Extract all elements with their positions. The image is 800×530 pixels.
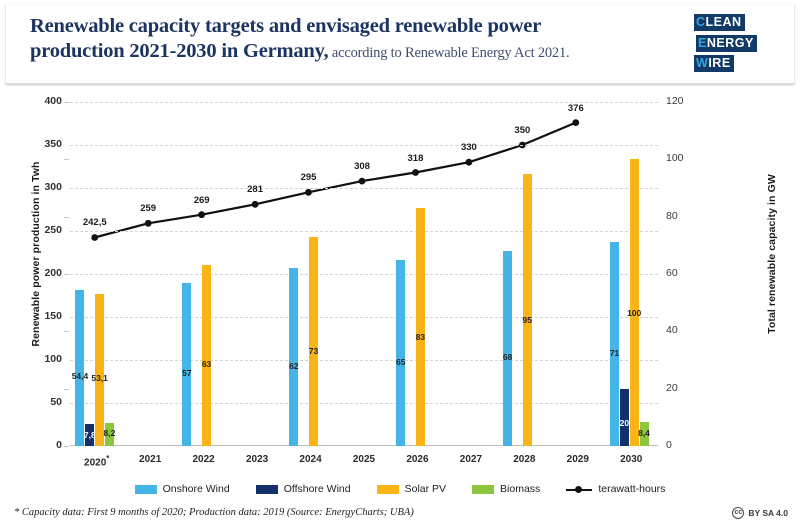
bar-value-label: 83 <box>407 332 434 342</box>
gridline <box>70 231 658 232</box>
y-axis-tick-right: 120 <box>666 95 706 107</box>
x-axis-tick-2027: 2027 <box>444 454 497 465</box>
gridline <box>70 188 658 189</box>
y-axis-tick-left: 100 <box>6 353 62 365</box>
legend-line-marker-icon <box>566 485 592 494</box>
y-axis-tick-right: 20 <box>666 382 706 394</box>
twh-data-point <box>572 119 579 126</box>
gridline <box>70 145 658 146</box>
page-title: Renewable capacity targets and envisaged… <box>30 14 670 66</box>
y-axis-label-right: Total renewable capacity in GW <box>766 134 778 374</box>
logo-clean-rest: LEAN <box>706 15 742 29</box>
title-line-2: production 2021-2030 in Germany, accordi… <box>30 39 670 66</box>
bar-value-label: 62 <box>280 361 307 371</box>
title-line-2-text: production 2021-2030 in Germany, <box>30 40 328 62</box>
twh-data-point <box>198 211 205 218</box>
bar-onshore-wind-2020 <box>75 290 84 446</box>
x-axis-tick-2021: 2021 <box>123 454 176 465</box>
bar-solar-pv-2030 <box>630 159 639 446</box>
logo-clean-initial: C <box>696 15 706 29</box>
y-axis-tick-mark <box>64 331 69 332</box>
legend-label: Solar PV <box>405 483 446 495</box>
y-axis-tick-right: 0 <box>666 439 706 451</box>
bar-offshore-wind-2030 <box>620 389 629 446</box>
y-axis-tick-right: 100 <box>666 152 706 164</box>
footnote-text: * Capacity data: First 9 months of 2020;… <box>14 507 414 518</box>
twh-point-label: 330 <box>443 142 495 153</box>
bar-solar-pv-2024 <box>309 237 318 446</box>
gridline <box>70 403 658 404</box>
twh-point-label: 242,5 <box>69 217 121 228</box>
twh-data-point <box>466 159 473 166</box>
cc-icon: cc <box>732 507 744 519</box>
bar-onshore-wind-2022 <box>182 283 191 446</box>
twh-point-label: 376 <box>550 103 602 114</box>
x-axis-tick-2030: 2030 <box>605 454 658 465</box>
twh-data-point <box>359 178 366 185</box>
gridline <box>70 360 658 361</box>
footer-bar: * Capacity data: First 9 months of 2020;… <box>0 502 800 530</box>
title-subtitle: according to Renewable Energy Act 2021. <box>328 45 569 61</box>
x-axis-tick-2026: 2026 <box>391 454 444 465</box>
twh-data-point <box>91 234 98 241</box>
legend-label: terawatt-hours <box>598 483 665 495</box>
legend-swatch-icon <box>135 485 157 494</box>
logo-energy-initial: E <box>698 36 707 50</box>
y-axis-tick-mark <box>64 274 69 275</box>
legend-swatch-icon <box>472 485 494 494</box>
y-axis-tick-right: 80 <box>666 210 706 222</box>
logo-row-clean: CLEAN <box>694 14 745 31</box>
gridline <box>70 317 658 318</box>
bar-value-label: 8,2 <box>96 428 123 438</box>
y-axis-tick-left: 300 <box>6 181 62 193</box>
bar-value-label: 65 <box>387 357 414 367</box>
bar-onshore-wind-2030 <box>610 242 619 446</box>
y-axis-tick-right: 40 <box>666 324 706 336</box>
y-axis-tick-left: 350 <box>6 138 62 150</box>
logo-wire-rest: IRE <box>708 56 730 70</box>
y-axis-tick-left: 400 <box>6 95 62 107</box>
bar-solar-pv-2020 <box>95 294 104 446</box>
legend-label: Offshore Wind <box>284 483 351 495</box>
y-axis-tick-left: 250 <box>6 224 62 236</box>
bar-onshore-wind-2024 <box>289 268 298 446</box>
bar-onshore-wind-2028 <box>503 251 512 446</box>
y-axis-tick-mark <box>64 446 69 447</box>
bar-value-label: 100 <box>621 308 648 318</box>
twh-point-label: 318 <box>389 153 441 164</box>
bar-solar-pv-2026 <box>416 208 425 446</box>
twh-data-point <box>412 169 419 176</box>
twh-point-label: 295 <box>283 172 335 183</box>
legend-swatch-icon <box>377 485 399 494</box>
bar-solar-pv-2028 <box>523 174 532 446</box>
x-axis-tick-2020: 2020* <box>70 454 123 468</box>
legend-item-terawatt-hours[interactable]: terawatt-hours <box>566 483 665 495</box>
chart-grid: 0501001502002503003504000204060801001202… <box>70 102 658 446</box>
x-axis-tick-2028: 2028 <box>498 454 551 465</box>
x-axis-tick-2022: 2022 <box>177 454 230 465</box>
bar-solar-pv-2022 <box>202 265 211 446</box>
legend-label: Biomass <box>500 483 540 495</box>
legend-item-offshore-wind[interactable]: Offshore Wind <box>256 483 351 495</box>
twh-data-point <box>252 201 259 208</box>
legend-item-biomass[interactable]: Biomass <box>472 483 540 495</box>
creative-commons-badge: cc BY SA 4.0 <box>732 507 788 519</box>
bar-value-label: 8,4 <box>631 428 658 438</box>
y-axis-tick-left: 150 <box>6 310 62 322</box>
chart-page: Renewable capacity targets and envisaged… <box>0 0 800 530</box>
x-axis-tick-2029: 2029 <box>551 454 604 465</box>
y-axis-tick-mark <box>64 389 69 390</box>
bar-value-label: 53,1 <box>86 373 113 383</box>
title-line-1: Renewable capacity targets and envisaged… <box>30 14 670 39</box>
bar-value-label: 73 <box>300 346 327 356</box>
legend-label: Onshore Wind <box>163 483 230 495</box>
twh-point-label: 350 <box>496 125 548 136</box>
clean-energy-wire-logo: CLEAN ENERGY WIRE <box>694 13 772 75</box>
twh-line-path <box>95 123 576 238</box>
gridline <box>70 274 658 275</box>
cc-license-text: BY SA 4.0 <box>748 508 788 518</box>
y-axis-tick-left: 200 <box>6 267 62 279</box>
legend-swatch-icon <box>256 485 278 494</box>
y-axis-tick-right: 60 <box>666 267 706 279</box>
twh-point-label: 259 <box>122 203 174 214</box>
logo-wire-initial: W <box>696 56 708 70</box>
logo-energy-rest: NERGY <box>707 36 754 50</box>
bar-value-label: 63 <box>193 359 220 369</box>
chart-plot-area: Renewable power production in Twh Total … <box>8 88 792 486</box>
twh-data-point <box>145 220 152 227</box>
logo-row-energy: ENERGY <box>696 35 757 52</box>
twh-point-label: 308 <box>336 161 388 172</box>
chart-legend: Onshore WindOffshore WindSolar PVBiomass… <box>8 478 792 500</box>
y-axis-label-left: Renewable power production in Twh <box>30 134 42 374</box>
y-axis-tick-left: 50 <box>6 396 62 408</box>
bar-value-label: 71 <box>601 348 628 358</box>
x-axis-line <box>70 445 658 446</box>
x-axis-tick-2024: 2024 <box>284 454 337 465</box>
bar-value-label: 95 <box>514 315 541 325</box>
bar-onshore-wind-2026 <box>396 260 405 446</box>
header-banner: Renewable capacity targets and envisaged… <box>6 4 794 84</box>
x-axis-tick-2023: 2023 <box>230 454 283 465</box>
twh-point-label: 269 <box>176 195 228 206</box>
legend-item-solar-pv[interactable]: Solar PV <box>377 483 446 495</box>
bar-value-label: 68 <box>494 352 521 362</box>
x-axis-tick-2025: 2025 <box>337 454 390 465</box>
twh-data-point <box>305 189 312 196</box>
legend-item-onshore-wind[interactable]: Onshore Wind <box>135 483 230 495</box>
twh-point-label: 281 <box>229 184 281 195</box>
y-axis-tick-mark <box>64 102 69 103</box>
y-axis-tick-left: 0 <box>6 439 62 451</box>
y-axis-tick-mark <box>64 159 69 160</box>
logo-row-wire: WIRE <box>694 55 734 72</box>
